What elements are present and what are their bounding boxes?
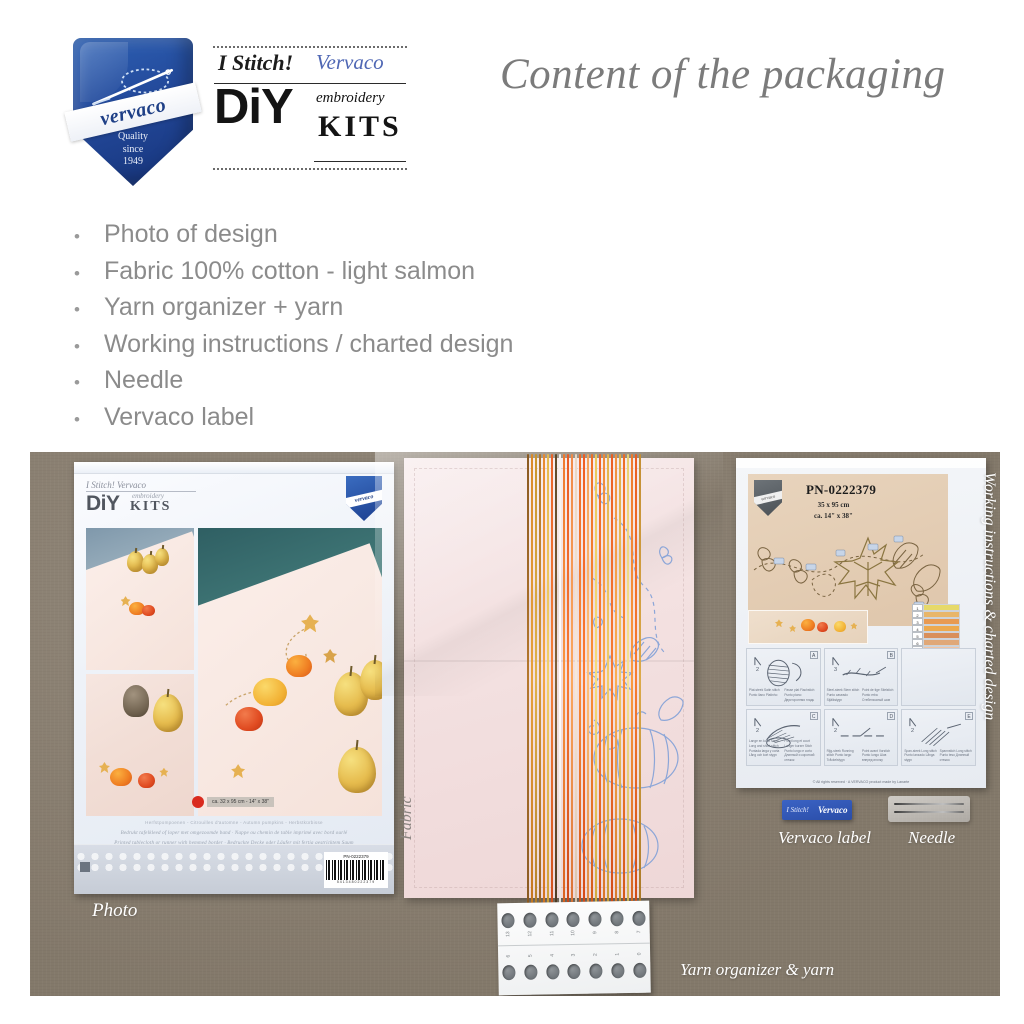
color-key-row: 6 (912, 639, 960, 646)
yarn-strand (599, 454, 601, 906)
yarn-organizer-card: 13 12 11 10 9 8 7 6 5 4 3 2 1 0 (497, 901, 651, 996)
list-item: • Yarn organizer + yarn (70, 289, 710, 326)
yarn-strand (551, 454, 553, 906)
bullet-icon: • (70, 335, 104, 360)
stitch-letter: A (810, 651, 818, 659)
organizer-hole (545, 912, 558, 927)
yarn-strand (531, 454, 533, 906)
stitch-letter: E (965, 712, 973, 720)
organizer-number: 8 (614, 926, 620, 939)
pinecone-prop (123, 685, 149, 717)
pear-prop (155, 548, 169, 566)
yarn-strand (571, 454, 573, 906)
color-key-number: 6 (912, 639, 923, 646)
embroidery-gourd (286, 655, 312, 677)
barcode-bars (326, 860, 386, 880)
organizer-hole (546, 964, 559, 979)
size-metric: 35 x 95 cm (814, 500, 853, 511)
yarn-strand (607, 454, 609, 906)
organizer-numbers-top: 13 12 11 10 9 8 7 (498, 929, 650, 938)
stitch-name-col: Lange en korte steek Long and short stit… (749, 739, 782, 763)
instructions-copyright: © All rights reserved · A VERVACO produc… (736, 780, 986, 784)
bullet-icon: • (70, 298, 104, 323)
yarn-strand (547, 454, 549, 906)
working-instructions-sheet: vervaco PN-0222379 35 x 95 cm ca. 14" x … (736, 458, 986, 788)
needle-item (894, 811, 964, 813)
color-key-swatch (923, 625, 960, 632)
photo-of-design-card: I Stitch! Vervaco DiY embroidery KITS ve… (74, 462, 394, 894)
list-item-label: Photo of design (104, 216, 278, 253)
embroidery-gourd (253, 678, 287, 706)
wordmark-vervaco: Vervaco (316, 50, 384, 75)
vervaco-label-tag: I Stitch! Vervaco (782, 800, 852, 820)
tag-line-a: I Stitch! (787, 806, 809, 814)
yarn-strand (543, 454, 545, 906)
organizer-hole (632, 911, 645, 926)
organizer-number: 12 (527, 927, 533, 940)
page-title: Content of the packaging (500, 50, 1000, 99)
stitch-name-col: Spannstich Long stitch Punto teso Длинны… (940, 749, 973, 763)
caption-working-instructions: Working instructions & charted design (980, 472, 998, 720)
color-key-row: 1 (912, 604, 960, 611)
stitch-names: Rijg-steek Running stitch Punto largo Tr… (827, 749, 896, 763)
organizer-hole (523, 913, 536, 928)
yarn-strand (539, 454, 541, 906)
stitch-letter: B (887, 651, 895, 659)
caption-yarn-organizer: Yarn organizer & yarn (680, 960, 834, 980)
list-item: • Photo of design (70, 216, 710, 253)
list-item: • Fabric 100% cotton - light salmon (70, 253, 710, 290)
organizer-number: 9 (592, 926, 598, 939)
organizer-hole (524, 965, 537, 980)
needle-item (894, 803, 964, 805)
color-key-row: 2 (912, 611, 960, 618)
card-size-tag: ca. 32 x 95 cm - 14" x 38" (192, 796, 274, 808)
yarn-strand (639, 454, 641, 906)
embroidery-gourd (142, 605, 155, 616)
color-key-number: 1 (912, 604, 923, 611)
stitch-diagram-spacer (901, 648, 976, 706)
embroidery-gourd (235, 707, 263, 731)
organizer-hole (568, 964, 581, 979)
stitch-names: Steel-steek Stem stitch Punto caseado St… (827, 688, 896, 702)
design-preview-strip (748, 610, 868, 644)
stitch-name-col: Rijg-steek Running stitch Punto largo Tr… (827, 749, 860, 763)
preview-leaf (775, 619, 783, 627)
stitch-name-col: Span-steek Long stitch Punto lanzado Lån… (904, 749, 937, 763)
caption-vervaco-label: Vervaco label (778, 828, 871, 848)
card-logo: I Stitch! Vervaco DiY embroidery KITS (86, 480, 196, 520)
wordmark-embroidery: embroidery (316, 90, 385, 107)
organizer-number: 0 (636, 947, 642, 960)
caption-photo: Photo (92, 900, 137, 922)
list-item-label: Vervaco label (104, 399, 254, 436)
yarn-strand (527, 454, 529, 906)
fabric-label: Fabric (398, 796, 416, 840)
shield-quality-text: Qualitysince1949 (73, 131, 193, 169)
yarn-strand (591, 454, 593, 906)
organizer-number: 1 (614, 948, 620, 961)
stitch-name-col: Steel-steek Stem stitch Punto caseado St… (827, 688, 860, 702)
color-key-swatch (923, 632, 960, 639)
organizer-hole (503, 965, 516, 980)
yarn-strand (559, 454, 561, 906)
card-photo-grid (86, 528, 382, 816)
organizer-hole (633, 963, 646, 978)
organizer-number: 5 (528, 949, 534, 962)
organizer-number: 10 (571, 926, 577, 939)
yarn-strand (535, 454, 537, 906)
preview-gourd (834, 621, 846, 632)
instructions-shield-text: vervaco (751, 491, 784, 506)
barcode-digits: 5413480222379 (326, 880, 386, 884)
yarn-strand (619, 454, 621, 906)
color-key-number: 3 (912, 618, 923, 625)
yarn-strand (587, 454, 589, 906)
preview-gourd (801, 619, 815, 631)
organizer-hole-row-bottom (498, 963, 650, 981)
wordmark-diy: DiY (214, 84, 293, 131)
tag-line-b: Vervaco (818, 805, 848, 815)
stitch-letter: D (887, 712, 895, 720)
instructions-shield-icon: vervaco (754, 480, 782, 516)
design-photo-main (198, 528, 382, 816)
svg-text:2: 2 (834, 728, 837, 734)
color-key-swatch (923, 604, 960, 611)
organizer-hole (567, 912, 580, 927)
size-tag-text: ca. 32 x 95 cm - 14" x 38" (207, 797, 274, 807)
page-header: vervaco Qualitysince1949 I Stitch! Verva… (0, 0, 1024, 200)
list-item: • Needle (70, 362, 710, 399)
color-key-number: 5 (912, 632, 923, 639)
needle-packet (888, 796, 970, 822)
list-item-label: Yarn organizer + yarn (104, 289, 343, 326)
color-key-row: 3 (912, 618, 960, 625)
color-key-swatch (923, 639, 960, 646)
svg-text:2: 2 (756, 728, 759, 734)
list-item-label: Needle (104, 362, 183, 399)
card-sleeve (74, 462, 394, 474)
bullet-icon: • (70, 225, 104, 250)
design-photo-thumb-2 (86, 674, 194, 816)
organizer-divider (498, 943, 650, 947)
yarn-strand (615, 454, 617, 906)
card-logo-kits: KITS (130, 499, 171, 515)
yarn-strand (603, 454, 605, 906)
pear-prop (153, 694, 183, 732)
caption-needle: Needle (908, 828, 955, 848)
stitch-diagram: C 2 Lange en korte steek Long and short … (746, 709, 821, 767)
svg-text:2: 2 (756, 667, 759, 673)
yarn-strand (635, 454, 637, 906)
wordmark-kits: KITS (318, 110, 402, 144)
embroidery-gourd (110, 768, 132, 786)
card-caption-subtitle: Herfstpompoenen - Citrouilles d'automne … (86, 820, 382, 825)
stitch-diagram: D 2 Rijg-steek Running stitch Punto larg… (824, 709, 899, 767)
card-photo-column-left (86, 528, 194, 816)
instructions-sleeve (736, 458, 986, 468)
contents-list: • Photo of design • Fabric 100% cotton -… (70, 216, 710, 435)
color-key-row: 5 (912, 632, 960, 639)
yarn-strand (595, 454, 597, 906)
stitch-diagram: A 2 Plat-steek Satin stitch Punto llano … (746, 648, 821, 706)
organizer-number: 2 (593, 948, 599, 961)
yarn-strands (525, 454, 645, 906)
yarn-strand (583, 454, 585, 906)
yarn-strand (579, 454, 581, 906)
stitch-name-col: Point long et court Langer kurzer Stich … (784, 739, 817, 763)
stitch-diagram: E 2 Span-steek Long stitch Punto lanzado… (901, 709, 976, 767)
wordmark-dotted-rule-top (212, 46, 408, 48)
color-key-swatch (923, 611, 960, 618)
card-barcode: PN-0222379 5413480222379 (324, 852, 388, 888)
stitch-name-col: Plat-steek Satin stitch Punto llano Plat… (749, 688, 782, 702)
list-item-label: Fabric 100% cotton - light salmon (104, 253, 475, 290)
organizer-hole (589, 912, 602, 927)
organizer-hole (589, 964, 602, 979)
card-footer: PN-0222379 5413480222379 (74, 844, 394, 894)
yarn-strand (567, 454, 569, 906)
pear-prop (338, 747, 376, 793)
vervaco-shield-logo: vervaco Qualitysince1949 (73, 38, 193, 186)
preview-leaf (789, 625, 796, 632)
organizer-number: 11 (549, 927, 555, 940)
design-photo-thumb-1 (86, 528, 194, 670)
stitch-names: Span-steek Long stitch Punto lanzado Lån… (904, 749, 973, 763)
yarn-strand (575, 454, 577, 906)
preview-leaf (850, 623, 857, 630)
stitch-names: Lange en korte steek Long and short stit… (749, 739, 818, 763)
diy-kits-wordmark: I Stitch! Vervaco DiY embroidery KITS (212, 46, 408, 170)
organizer-hole (502, 913, 515, 928)
bullet-icon: • (70, 262, 104, 287)
card-logo-top: I Stitch! Vervaco (86, 480, 196, 492)
list-item-label: Working instructions / charted design (104, 326, 513, 363)
product-contents-photo: I Stitch! Vervaco DiY embroidery KITS ve… (30, 452, 1000, 996)
organizer-hole (611, 963, 624, 978)
yarn-strand (563, 454, 565, 906)
page-root: vervaco Qualitysince1949 I Stitch! Verva… (0, 0, 1024, 1024)
yarn-strand (623, 454, 625, 906)
yarn-strand (555, 454, 557, 906)
bullet-icon: • (70, 408, 104, 433)
organizer-hole (610, 911, 623, 926)
wordmark-i-stitch: I Stitch! (218, 50, 293, 76)
organizer-number: 7 (636, 925, 642, 938)
stitch-name-col: Point avant Vorstich Punto lungo Шов впе… (862, 749, 895, 763)
organizer-number: 6 (506, 950, 512, 963)
bullet-icon: • (70, 371, 104, 396)
organizer-numbers-bottom: 6 5 4 3 2 1 0 (498, 951, 650, 960)
card-footer-square (80, 862, 90, 872)
instructions-shield-band: vervaco (751, 491, 784, 506)
svg-text:2: 2 (911, 728, 914, 734)
stitch-letter: C (810, 712, 818, 720)
organizer-number: 3 (571, 948, 577, 961)
wordmark-underline (314, 161, 406, 162)
stitch-names: Plat-steek Satin stitch Punto llano Plat… (749, 688, 818, 702)
color-key-row: 4 (912, 625, 960, 632)
color-key-number: 4 (912, 625, 923, 632)
organizer-number: 13 (505, 928, 511, 941)
color-key-swatch (923, 618, 960, 625)
card-caption-line: Bedrukt tafelkleed of loper met omgezoom… (86, 829, 382, 839)
embroidery-gourd (138, 773, 155, 788)
instructions-product-number: PN-0222379 (806, 482, 876, 498)
embroidery-swirl (213, 586, 342, 747)
preview-gourd (817, 622, 828, 632)
stitch-name-col: Point de tige Stielstich Punto erba Стеб… (862, 688, 895, 702)
color-key-number: 2 (912, 611, 923, 618)
list-item: • Working instructions / charted design (70, 326, 710, 363)
svg-text:3: 3 (834, 667, 838, 673)
list-item: • Vervaco label (70, 399, 710, 436)
yarn-strand (627, 454, 629, 906)
wordmark-dotted-rule-bottom (212, 168, 408, 170)
yarn-strand (611, 454, 613, 906)
stitch-name-col: Passe plat Flachstich Punto piano Двусто… (784, 688, 817, 702)
stitch-diagram-grid: A 2 Plat-steek Satin stitch Punto llano … (746, 648, 976, 766)
yarn-strand (631, 454, 633, 906)
size-dot-icon (192, 796, 204, 808)
organizer-number: 4 (549, 949, 555, 962)
stitch-diagram: B 3 Steel-steek Stem stitch Punto casead… (824, 648, 899, 706)
